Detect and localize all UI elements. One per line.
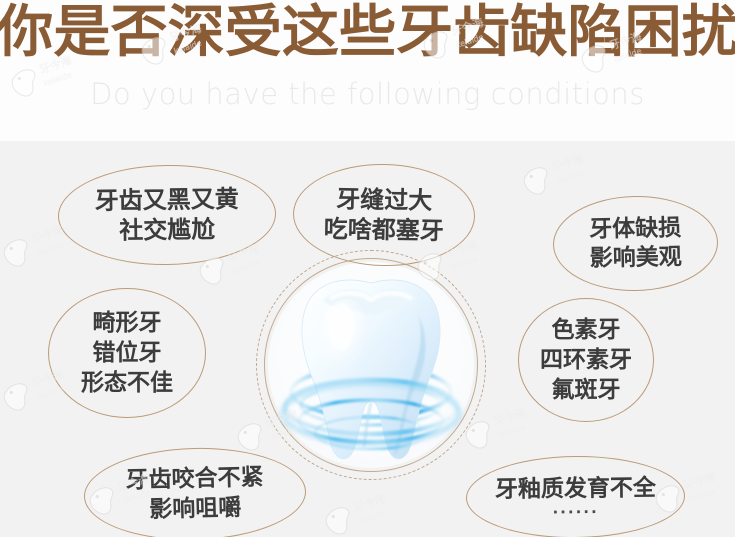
bubble-line: 色素牙	[552, 315, 621, 345]
bubble-line: 牙齿又黑又黄	[95, 184, 239, 216]
bubble-line: 影响咀嚼	[149, 493, 242, 525]
bubble-line: 吃啥都塞牙	[323, 214, 444, 246]
bubble-line: 形态不佳	[81, 368, 173, 398]
bubble-line: 牙齿咬合不紧	[125, 462, 264, 495]
bubble-line: 四环素牙	[540, 345, 632, 375]
bubble-ellipsis: ······	[552, 505, 598, 519]
bubble-pigmented-teeth[interactable]: 色素牙 四环素牙 氟斑牙	[518, 298, 654, 422]
bubble-enamel-hypoplasia[interactable]: 牙釉质发育不全 ······	[466, 455, 686, 537]
page-root: 你是否深受这些牙齿缺陷困扰 Do you have the following …	[0, 0, 735, 537]
page-header: 你是否深受这些牙齿缺陷困扰 Do you have the following …	[0, 0, 735, 141]
bubble-line: 牙缝过大	[336, 184, 433, 216]
bubble-line: 畸形牙	[93, 308, 162, 338]
bubble-line: 错位牙	[93, 338, 162, 368]
bubble-line: 氟斑牙	[552, 375, 621, 405]
bubble-line: 影响美观	[590, 243, 682, 274]
tooth-illustration	[268, 255, 474, 475]
bubble-line: 牙体缺损	[589, 214, 681, 245]
page-subtitle: Do you have the following conditions	[0, 76, 735, 112]
bubble-deformed-teeth[interactable]: 畸形牙 错位牙 形态不佳	[48, 288, 206, 418]
bubble-line: 牙釉质发育不全	[495, 474, 656, 504]
bubble-line: 社交尴尬	[119, 214, 215, 245]
page-title: 你是否深受这些牙齿缺陷困扰	[0, 0, 735, 68]
